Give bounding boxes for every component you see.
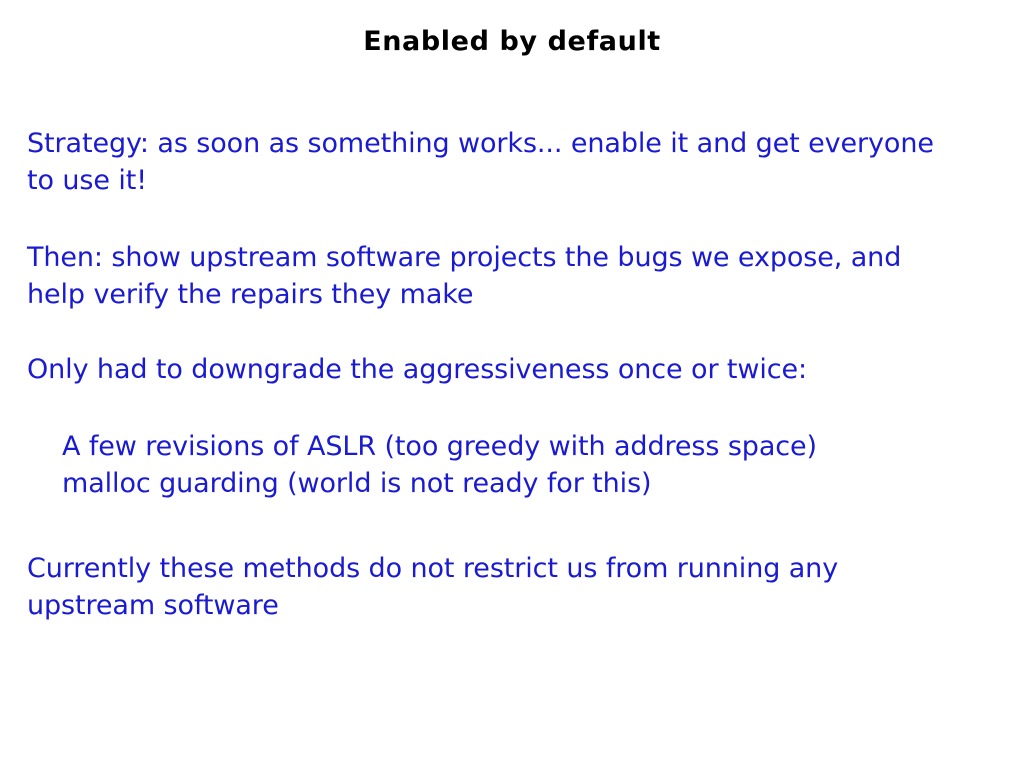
paragraph-bullets: A few revisions of ASLR (too greedy with… (62, 428, 1022, 502)
slide-canvas: Enabled by default Strategy: as soon as … (0, 0, 1024, 768)
paragraph-then: Then: show upstream software projects th… (27, 239, 987, 313)
text-line: to use it! (27, 162, 987, 199)
slide-title: Enabled by default (0, 26, 1024, 57)
text-line: malloc guarding (world is not ready for … (62, 465, 1022, 502)
text-line: Currently these methods do not restrict … (27, 550, 987, 587)
text-line: Only had to downgrade the aggressiveness… (27, 351, 987, 388)
text-line: help verify the repairs they make (27, 276, 987, 313)
text-line: Then: show upstream software projects th… (27, 239, 987, 276)
text-line: Strategy: as soon as something works... … (27, 125, 987, 162)
text-line: A few revisions of ASLR (too greedy with… (62, 428, 1022, 465)
paragraph-currently: Currently these methods do not restrict … (27, 550, 987, 624)
paragraph-downgrade: Only had to downgrade the aggressiveness… (27, 351, 987, 388)
text-line: upstream software (27, 587, 987, 624)
paragraph-strategy: Strategy: as soon as something works... … (27, 125, 987, 199)
